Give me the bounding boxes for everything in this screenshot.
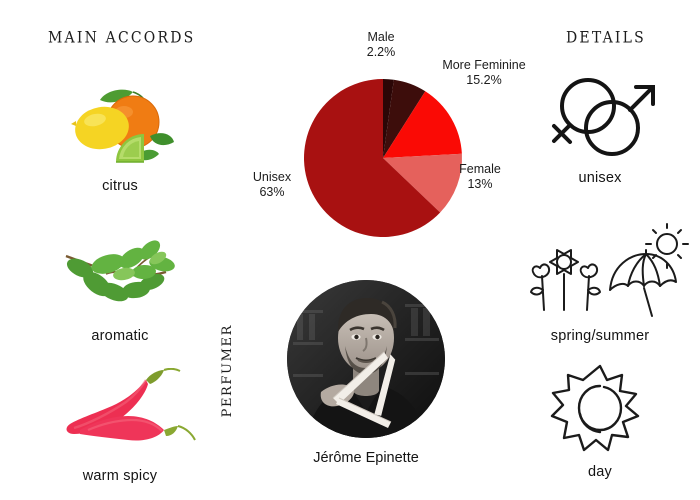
detail-label: spring/summer [500,328,700,344]
flowers-parasol-sun-icon [510,222,690,326]
accord-label: aromatic [20,328,220,344]
main-accords-header: MAIN ACCORDS [48,29,195,47]
accord-item-aromatic[interactable]: aromatic [20,228,220,344]
perfumer-section: PERFUMER [228,278,478,488]
gender-pie-chart: Male 2.2% More Feminine 15.2% Female 13%… [228,18,538,238]
detail-item-spring-summer[interactable]: spring/summer [500,222,700,344]
detail-label: unisex [500,170,700,186]
accord-item-warm-spicy[interactable]: warm spicy [20,368,220,484]
gender-unisex-icon [510,64,690,168]
pie-label-unisex: Unisex 63% [236,170,308,201]
accord-label: citrus [20,178,220,194]
detail-item-unisex[interactable]: unisex [500,64,700,186]
sun-icon [510,358,690,462]
detail-item-day[interactable]: day [500,358,700,480]
citrus-fruit-image [40,78,200,174]
pie-label-male: Male 2.2% [346,30,416,61]
chili-peppers-image [40,368,200,464]
details-header: DETAILS [566,29,646,47]
perfumer-section-label: PERFUMER [220,324,235,417]
herb-sprig-image [40,228,200,324]
accord-label: warm spicy [20,468,220,484]
detail-label: day [500,464,700,480]
accord-item-citrus[interactable]: citrus [20,78,220,194]
perfumer-name: Jérôme Epinette [228,450,504,466]
perfumer-portrait[interactable] [287,280,445,438]
